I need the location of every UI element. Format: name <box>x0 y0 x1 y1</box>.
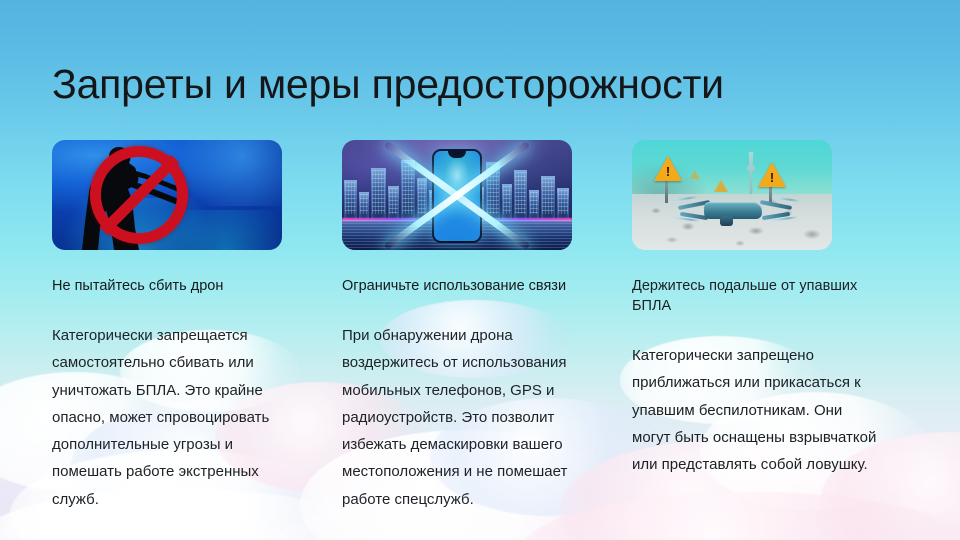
content-column-no-shoot-down: Не пытайтесь сбить дрон Категорически за… <box>52 140 282 513</box>
phone-city-crossed-image <box>342 140 572 250</box>
background-tower <box>744 152 758 200</box>
card-body-text: При обнаружении дрона воздержитесь от ис… <box>342 322 572 513</box>
slide-root: Запреты и меры предосторожности Не пытай… <box>0 0 960 540</box>
card-heading: Не пытайтесь сбить дрон <box>52 276 282 296</box>
page-title: Запреты и меры предосторожности <box>52 62 724 108</box>
card-heading: Держитесь подальше от упавших БПЛА <box>632 276 878 316</box>
prohibition-slash-icon <box>90 146 188 244</box>
content-columns: Не пытайтесь сбить дрон Категорически за… <box>52 140 908 513</box>
card-body-text: Категорически запрещено приближаться или… <box>632 342 878 478</box>
crashed-drone-icon <box>670 194 798 228</box>
card-heading: Ограничьте использование связи <box>342 276 572 296</box>
content-column-keep-away-from-downed-uav: Держитесь подальше от упавших БПЛА Катег… <box>632 140 878 513</box>
warning-triangle-icon <box>690 170 700 179</box>
warning-triangle-icon <box>758 162 786 187</box>
card-body-text: Категорически запрещается самостоятельно… <box>52 322 282 513</box>
content-column-limit-communications: Ограничьте использование связи При обнар… <box>342 140 572 513</box>
warning-triangle-icon <box>714 180 728 192</box>
warning-triangle-icon <box>654 156 682 181</box>
no-shooting-image <box>52 140 282 250</box>
downed-drone-warning-image <box>632 140 832 250</box>
